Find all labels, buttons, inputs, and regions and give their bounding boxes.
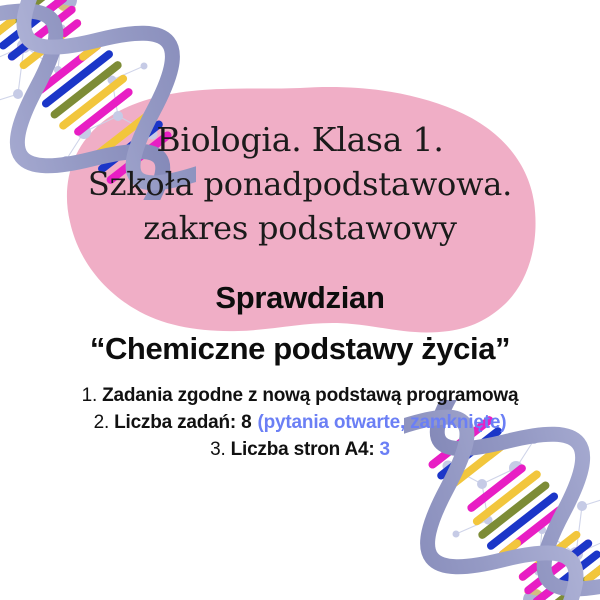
poster-canvas: Biologia. Klasa 1. Szkoła ponadpodstawow… bbox=[0, 0, 600, 600]
list-item-text: Liczba zadań: 8 bbox=[114, 409, 251, 436]
course-heading-line-2: Szkoła ponadpodstawowa. bbox=[0, 162, 600, 206]
details-list: 1. Zadania zgodne z nową podstawą progra… bbox=[0, 382, 600, 463]
list-item: 1. Zadania zgodne z nową podstawą progra… bbox=[0, 382, 600, 409]
list-item-number: 2. bbox=[94, 409, 109, 436]
course-heading: Biologia. Klasa 1. Szkoła ponadpodstawow… bbox=[0, 118, 600, 250]
list-item-number: 3. bbox=[210, 436, 225, 463]
list-item-text: Liczba stron A4: bbox=[231, 436, 375, 463]
list-item: 3. Liczba stron A4: 3 bbox=[0, 436, 600, 463]
topic-title: “Chemiczne podstawy życia” bbox=[0, 330, 600, 368]
course-heading-line-3: zakres podstawowy bbox=[0, 206, 600, 250]
list-item-number: 1. bbox=[82, 382, 97, 409]
list-item-text: Zadania zgodne z nową podstawą programow… bbox=[102, 382, 518, 409]
content-stack: Biologia. Klasa 1. Szkoła ponadpodstawow… bbox=[0, 0, 600, 600]
list-item: 2. Liczba zadań: 8 (pytania otwarte, zam… bbox=[0, 409, 600, 436]
list-item-note: (pytania otwarte, zamknięte) bbox=[258, 409, 507, 436]
course-heading-line-1: Biologia. Klasa 1. bbox=[0, 118, 600, 162]
list-item-value: 3 bbox=[379, 436, 389, 463]
page-title: Sprawdzian bbox=[0, 280, 600, 316]
